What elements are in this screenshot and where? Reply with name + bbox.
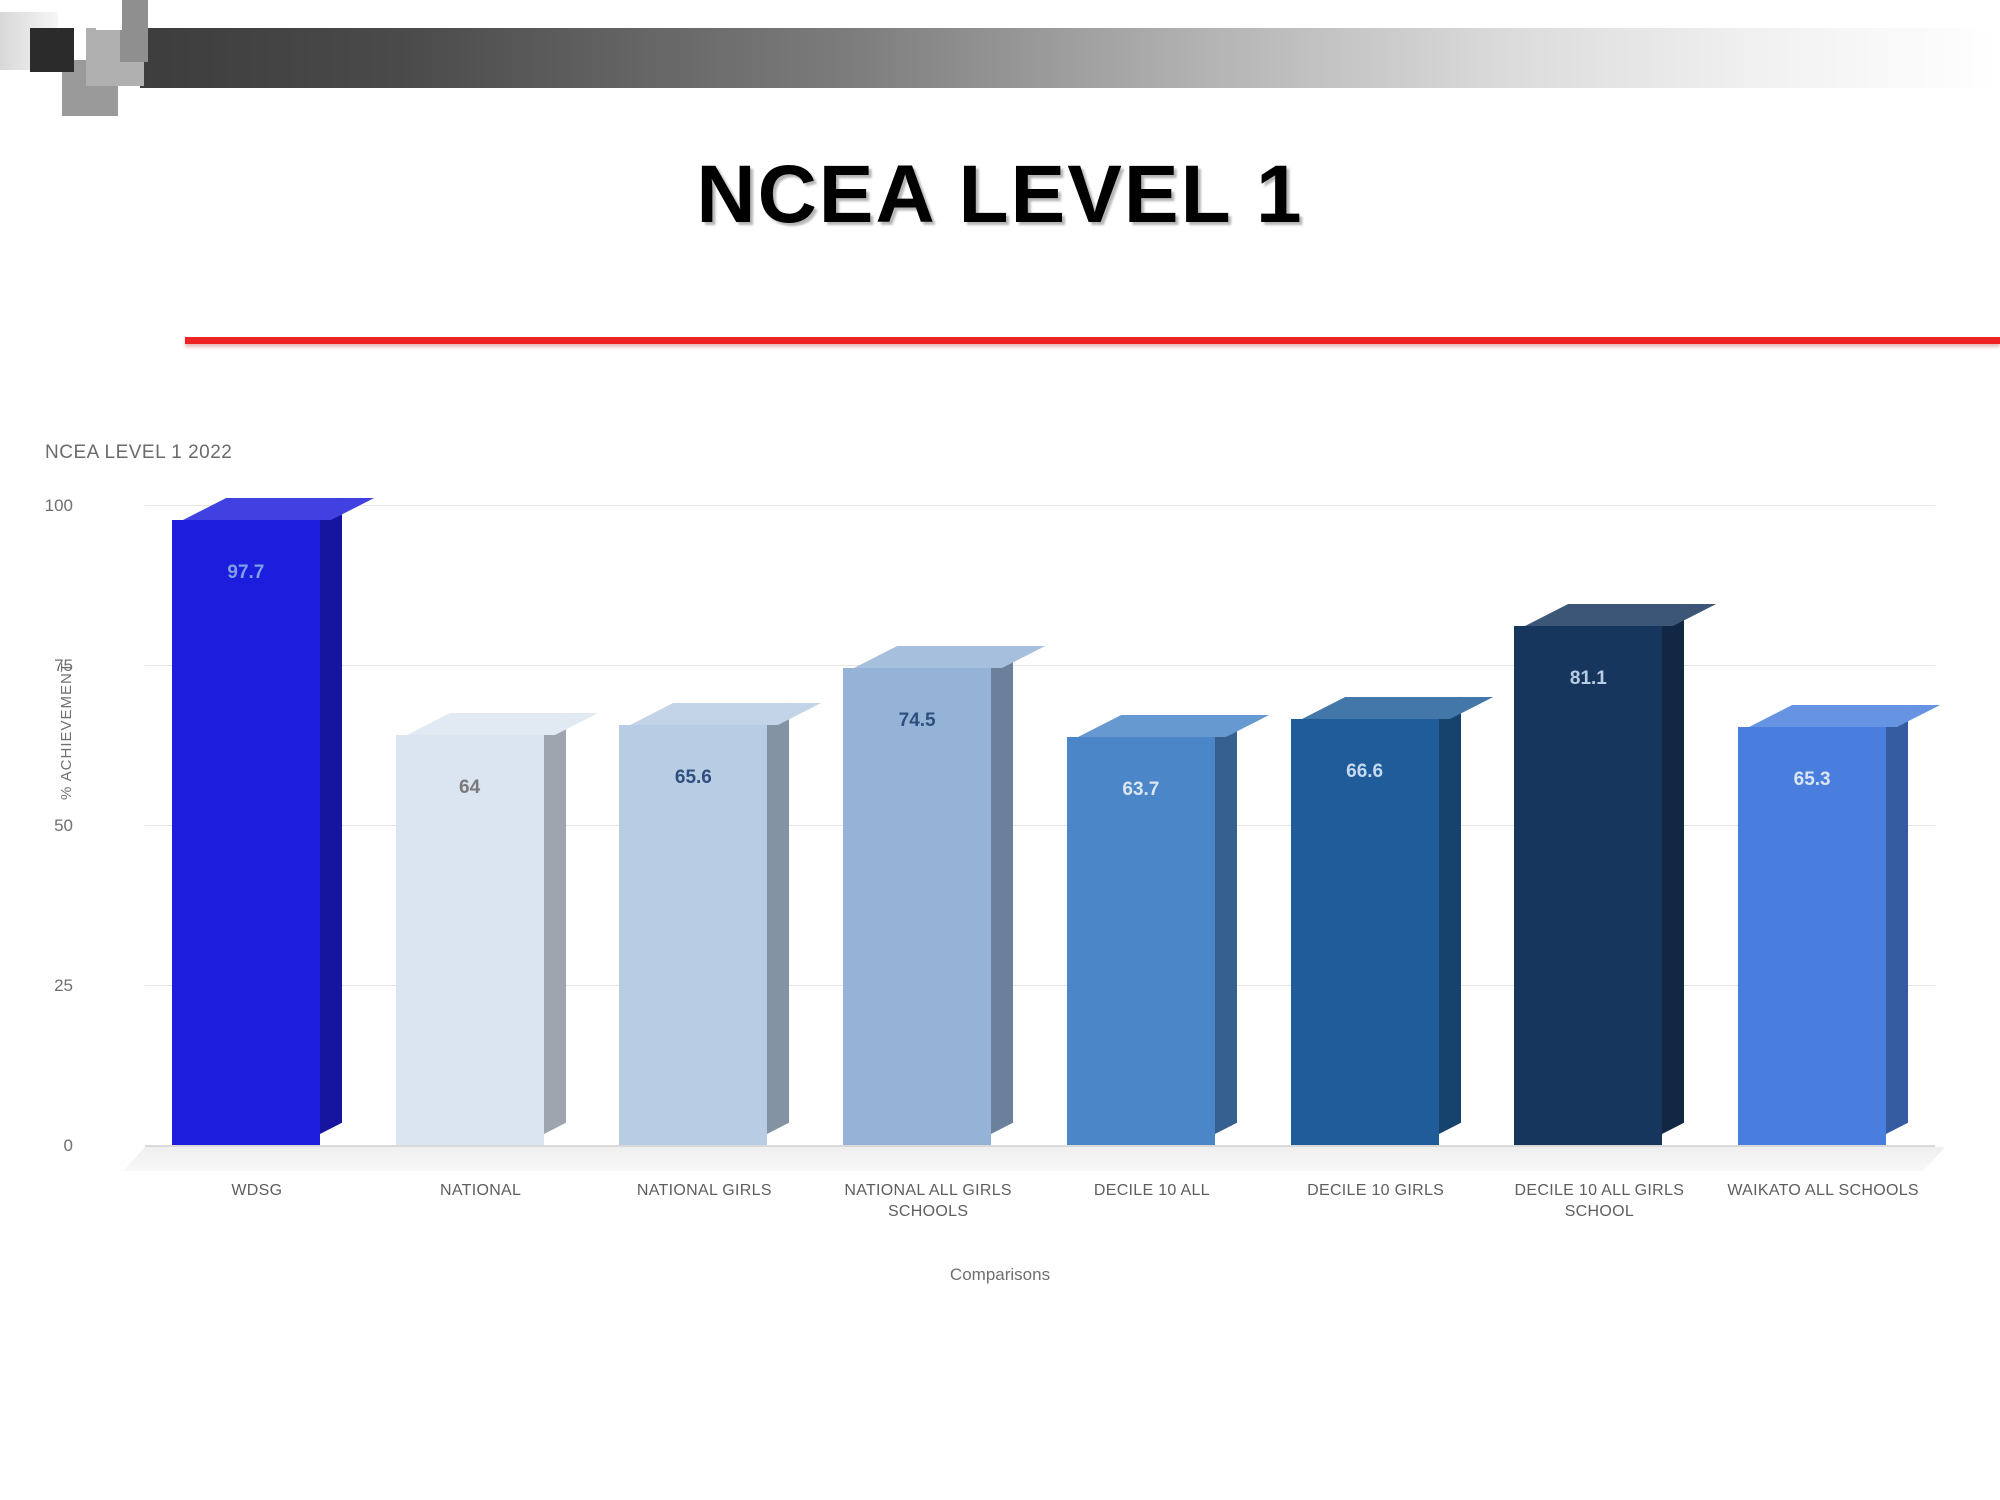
y-axis-tick-label: 25 [13,976,73,996]
header-square-dark [30,28,74,72]
bar-side-face [1439,697,1461,1134]
bar[interactable]: 63.7 [1067,737,1215,1145]
gridline [145,505,1935,506]
chart-floor [123,1147,1945,1171]
bar-top-face [183,498,374,520]
y-axis-title: % ACHIEVEMENT [58,662,75,800]
header-gradient-bar [140,28,2000,88]
bar-top-face [1302,697,1493,719]
x-axis-category-label: NATIONAL GIRLS [593,1180,817,1201]
bar-side-face [544,713,566,1134]
y-axis-tick-label: 0 [13,1136,73,1156]
bar-chart: NCEA LEVEL 1 2022 % ACHIEVEMENT 10075502… [0,420,2000,1260]
x-axis-category-label: DECILE 10 ALL [1040,1180,1264,1201]
bar-value-label: 64 [396,777,544,799]
bar-side-face [1886,705,1908,1134]
x-axis-category-label: DECILE 10 GIRLS [1264,1180,1488,1201]
page-title: NCEA LEVEL 1 [0,148,2000,242]
bar[interactable]: 81.1 [1514,626,1662,1145]
y-axis-tick-label: 100 [13,496,73,516]
x-axis-category-label: DECILE 10 ALL GIRLS SCHOOL [1488,1180,1712,1222]
bar[interactable]: 66.6 [1291,719,1439,1145]
bar-top-face [407,713,598,735]
bar-value-label: 65.6 [619,767,767,789]
bar[interactable]: 65.6 [619,725,767,1145]
chart-title: NCEA LEVEL 1 2022 [45,442,232,464]
bar-side-face [991,646,1013,1134]
bar[interactable]: 74.5 [843,668,991,1145]
bar[interactable]: 64 [396,735,544,1145]
x-axis-category-label: NATIONAL ALL GIRLS SCHOOLS [816,1180,1040,1222]
bar-front-face [843,668,991,1145]
bar-value-label: 66.6 [1291,761,1439,783]
bar-front-face [172,520,320,1145]
bar-top-face [1749,705,1940,727]
bar-value-label: 63.7 [1067,779,1215,801]
accent-divider [185,337,2000,344]
plot-area: 100755025097.76465.674.563.766.681.165.3 [145,505,1935,1145]
x-axis-category-label: WDSG [145,1180,369,1201]
bar-value-label: 81.1 [1514,668,1662,690]
y-axis-tick-label: 50 [13,816,73,836]
bar-value-label: 74.5 [843,710,991,732]
x-axis-category-label: NATIONAL [369,1180,593,1201]
y-axis-tick-label: 75 [13,656,73,676]
bar-side-face [767,703,789,1134]
bar-side-face [320,498,342,1134]
bar-front-face [1514,626,1662,1145]
bar-top-face [1078,715,1269,737]
header-square-white [96,0,122,30]
bar[interactable]: 97.7 [172,520,320,1145]
x-axis-category-label: WAIKATO ALL SCHOOLS [1711,1180,1935,1201]
bar-top-face [630,703,821,725]
decorative-header [0,0,2000,100]
bar-top-face [1525,604,1716,626]
header-square-tall [120,0,148,62]
bar-side-face [1662,604,1684,1134]
bar[interactable]: 65.3 [1738,727,1886,1145]
bar-side-face [1215,715,1237,1134]
bar-value-label: 65.3 [1738,769,1886,791]
bar-value-label: 97.7 [172,562,320,584]
x-axis-title: Comparisons [0,1265,2000,1285]
